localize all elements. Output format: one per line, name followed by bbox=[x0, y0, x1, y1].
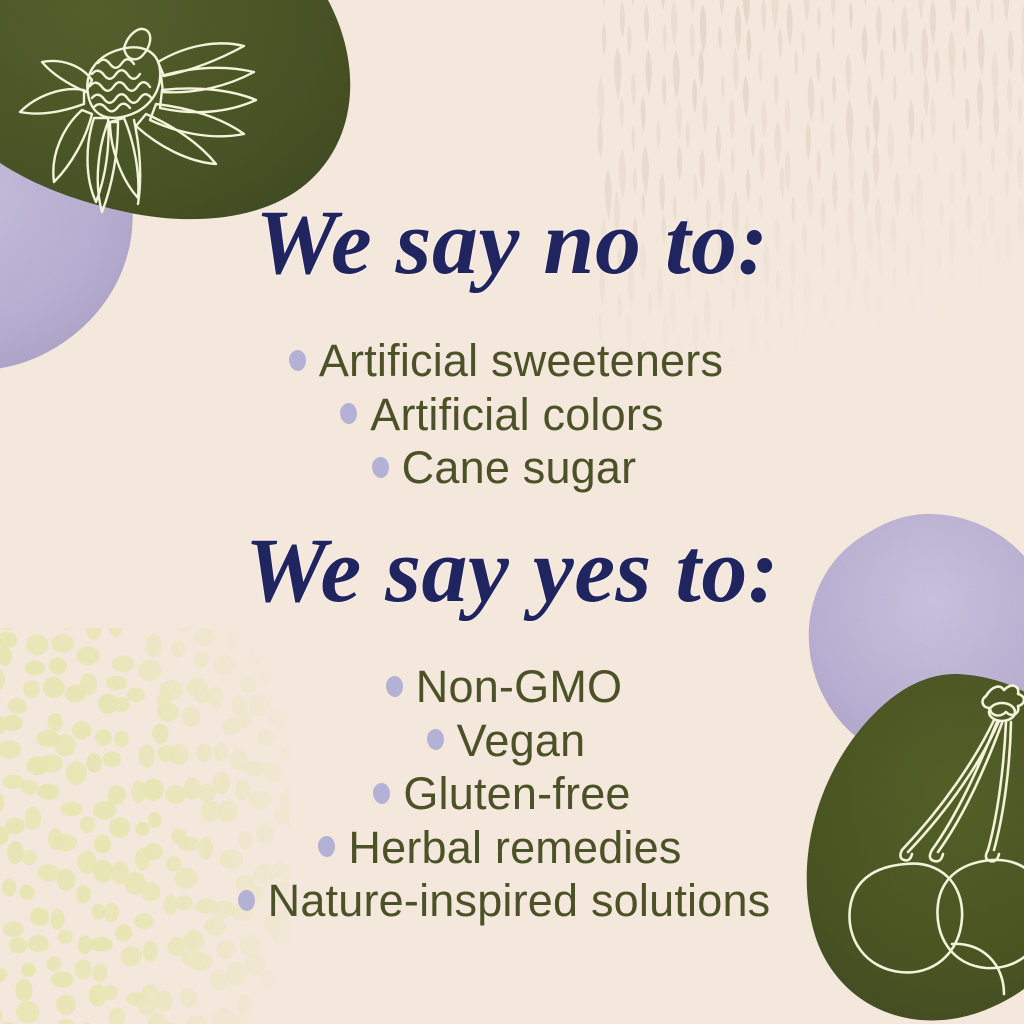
list-item: Gluten-free bbox=[0, 767, 1014, 821]
list-item-label: Artificial colors bbox=[370, 389, 663, 440]
list-item-label: Artificial sweeteners bbox=[319, 335, 723, 386]
bullet-icon bbox=[340, 403, 357, 424]
list-item-label: Nature-inspired solutions bbox=[268, 875, 771, 926]
list-item: Artificial sweeteners bbox=[0, 334, 1018, 388]
list-item: Cane sugar bbox=[0, 441, 1016, 495]
bullet-icon bbox=[386, 676, 403, 697]
list-item-label: Cane sugar bbox=[402, 442, 637, 493]
bullet-icon bbox=[372, 457, 389, 478]
list-no: Artificial sweeteners Artificial colors … bbox=[0, 334, 1024, 495]
heading-no: We say no to: bbox=[0, 196, 1024, 288]
poster-canvas: We say no to: Artificial sweeteners Arti… bbox=[0, 0, 1024, 1024]
list-item-label: Gluten-free bbox=[403, 768, 630, 819]
list-item: Non-GMO bbox=[0, 660, 1016, 714]
list-item-label: Vegan bbox=[457, 715, 586, 766]
bullet-icon bbox=[318, 836, 335, 857]
list-yes: Non-GMO Vegan Gluten-free Herbal remedie… bbox=[0, 660, 1024, 928]
content-layer: We say no to: Artificial sweeteners Arti… bbox=[0, 0, 1024, 1024]
bullet-icon bbox=[427, 729, 444, 750]
list-item-label: Herbal remedies bbox=[348, 822, 681, 873]
heading-yes: We say yes to: bbox=[0, 524, 1024, 616]
list-item-label: Non-GMO bbox=[416, 661, 622, 712]
bullet-icon bbox=[238, 890, 255, 911]
list-item: Herbal remedies bbox=[0, 821, 1012, 875]
list-item: Vegan bbox=[0, 714, 1018, 768]
list-item: Nature-inspired solutions bbox=[0, 874, 1016, 928]
bullet-icon bbox=[289, 350, 306, 371]
list-item: Artificial colors bbox=[0, 388, 1014, 442]
bullet-icon bbox=[373, 783, 390, 804]
